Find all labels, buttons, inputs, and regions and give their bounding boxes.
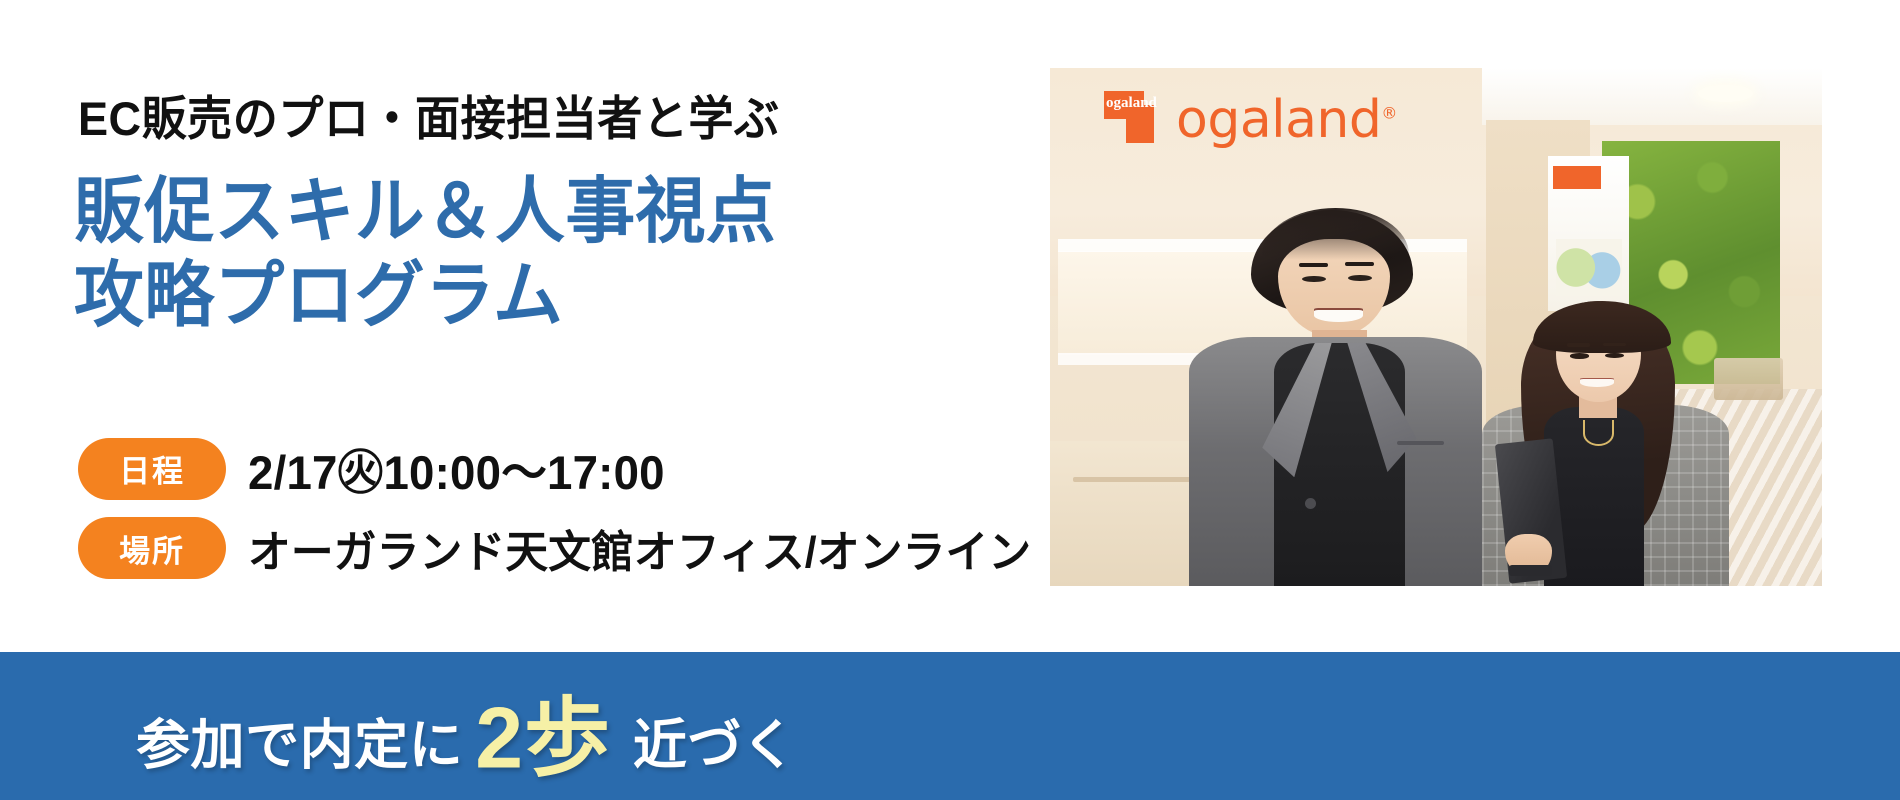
- woman-smile: [1580, 378, 1614, 387]
- man-eyebrow-right: [1345, 262, 1374, 267]
- banner-kicker: EC販売のプロ・面接担当者と学ぶ: [78, 92, 780, 146]
- brand-wordmark: ogaland®: [1176, 94, 1397, 146]
- headline-line-1: 販促スキル＆人事視点: [74, 170, 776, 254]
- photo-ceiling: [1482, 68, 1822, 125]
- headline-line-2: 攻略プログラム: [74, 254, 776, 338]
- office-staff-photo: ogaland ogaland®: [1050, 68, 1822, 586]
- photo-decor-letters: [1714, 358, 1783, 399]
- event-place-value: オーガランド天文館オフィス/オンライン: [248, 516, 1031, 580]
- brand-registered-mark: ®: [1381, 104, 1396, 123]
- event-place-row: 場所 オーガランド天文館オフィス/オンライン: [78, 516, 1056, 580]
- poster-artwork: [1556, 239, 1622, 296]
- poster-brand-logo-icon: [1553, 166, 1601, 189]
- banner-text-column: EC販売のプロ・面接担当者と学ぶ 販促スキル＆人事視点 攻略プログラム 日程 2…: [0, 0, 1040, 652]
- man-jacket-pocket: [1397, 441, 1443, 445]
- event-date-value: 2/17㊋10:00〜17:00: [248, 434, 665, 503]
- man-eyebrow-left: [1299, 263, 1328, 268]
- event-date-row: 日程 2/17㊋10:00〜17:00: [78, 434, 678, 503]
- woman-necklace: [1583, 420, 1615, 445]
- wall-brand-logo: ogaland ogaland®: [1104, 91, 1397, 149]
- slogan-prefix: 参加で内定に: [136, 701, 463, 780]
- banner-headline: 販促スキル＆人事視点 攻略プログラム: [74, 170, 776, 338]
- cta-bar: 参加で内定に 2歩 近づく 詳細・お申し込みはこちら: [0, 652, 1900, 800]
- woman-eye-right: [1605, 353, 1624, 358]
- cta-slogan: 参加で内定に 2歩 近づく: [136, 664, 796, 789]
- place-badge: 場所: [78, 517, 226, 579]
- brand-mark-icon: ogaland: [1104, 91, 1162, 149]
- brand-mark-text: ogaland: [1106, 95, 1157, 112]
- woman-eyebrow-right: [1603, 343, 1626, 347]
- man-smile: [1314, 308, 1363, 321]
- woman-eyebrow-left: [1567, 343, 1590, 347]
- ceiling-light-icon: [1698, 85, 1752, 103]
- woman-eye-left: [1570, 353, 1589, 358]
- slogan-highlight: 2歩: [475, 668, 611, 793]
- date-badge: 日程: [78, 438, 226, 500]
- promo-banner: EC販売のプロ・面接担当者と学ぶ 販促スキル＆人事視点 攻略プログラム 日程 2…: [0, 0, 1900, 800]
- slogan-suffix: 近づく: [633, 701, 797, 780]
- woman-wrist-band: [1509, 565, 1551, 575]
- brand-wordmark-text: ogaland: [1176, 90, 1381, 150]
